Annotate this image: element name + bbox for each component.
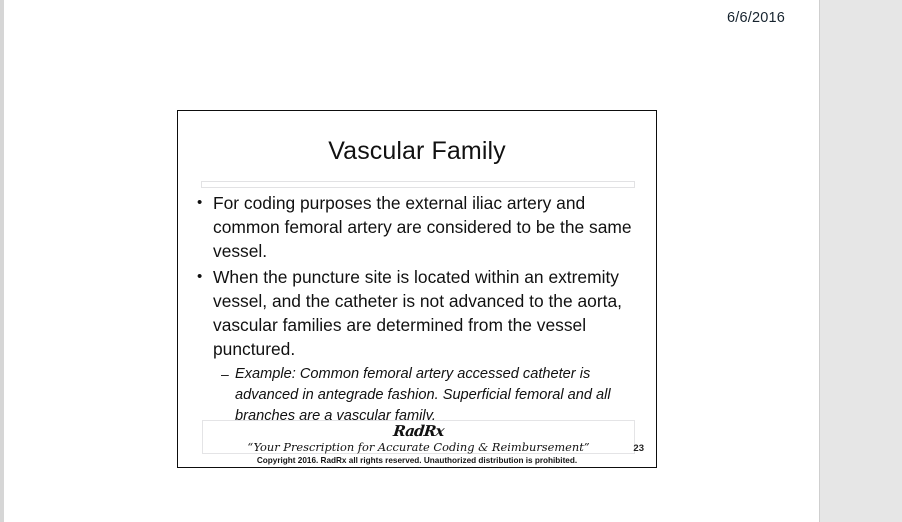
sub-bullet-item: – Example: Common femoral artery accesse… (195, 364, 643, 427)
bullet-item: • When the puncture site is located with… (195, 265, 643, 361)
slide-footer-box: RadRx “Your Prescription for Accurate Co… (202, 420, 635, 454)
dash-marker-icon: – (221, 364, 235, 385)
footer-tagline: “Your Prescription for Accurate Coding &… (203, 440, 634, 454)
bullet-text: When the puncture site is located within… (213, 265, 643, 361)
sub-bullet-text: Example: Common femoral artery accessed … (235, 364, 643, 427)
bullet-text: For coding purposes the external iliac a… (213, 191, 643, 263)
slide-viewer: 6/6/2016 Vascular Family • For coding pu… (0, 0, 902, 522)
presentation-slide: Vascular Family • For coding purposes th… (177, 110, 657, 468)
bullet-marker-icon: • (195, 191, 213, 215)
radrx-logo: RadRx (202, 422, 635, 440)
slide-title: Vascular Family (178, 137, 656, 166)
title-divider-rule (201, 181, 635, 188)
document-page: 6/6/2016 Vascular Family • For coding pu… (0, 0, 820, 522)
slide-body: • For coding purposes the external iliac… (195, 191, 643, 427)
slide-number: 23 (633, 443, 644, 454)
footer-copyright: Copyright 2016. RadRx all rights reserve… (178, 456, 656, 465)
bullet-marker-icon: • (195, 265, 213, 289)
bullet-item: • For coding purposes the external iliac… (195, 191, 643, 263)
page-header-date: 6/6/2016 (727, 10, 785, 26)
